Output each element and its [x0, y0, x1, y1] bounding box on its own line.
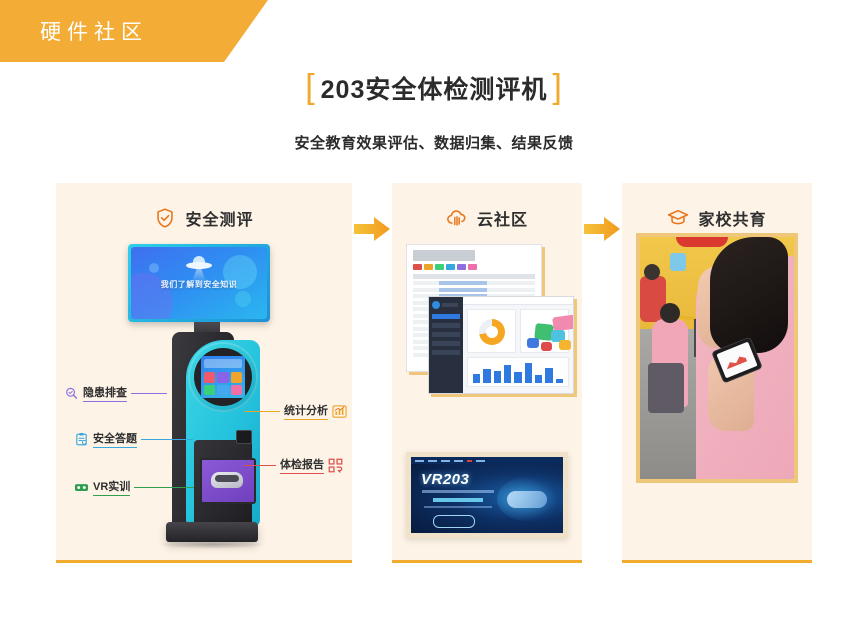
- panel-header-2: 云社区: [392, 183, 582, 230]
- callout-hazard-inspection: 隐患排查: [64, 384, 167, 402]
- clipboard-icon: [74, 432, 89, 447]
- callout-label: 体检报告: [280, 456, 324, 474]
- page-title-text: 203安全体检测评机: [321, 70, 548, 106]
- graduation-cap-icon: [667, 207, 689, 229]
- vr-goggles-icon: [74, 480, 89, 495]
- callout-health-report: 体检报告: [244, 456, 343, 474]
- callout-leader-line: [131, 393, 167, 394]
- magnifier-icon: [64, 386, 79, 401]
- dashboard-sidebar: [429, 297, 463, 393]
- callout-label: VR实训: [93, 478, 130, 496]
- callout-label: 隐患排查: [83, 384, 127, 402]
- kiosk-monitor: 我们了解到安全知识: [128, 244, 270, 322]
- callout-leader-line: [244, 465, 276, 466]
- panel-safety-assessment: 安全测评 我们了解到安全知识: [56, 183, 352, 563]
- callout-statistics-analysis: 统计分析: [244, 402, 347, 420]
- arrow-right-icon: [584, 216, 620, 242]
- screenshot-analytics-dashboard: [428, 296, 574, 394]
- vr203-website-banner: VR203: [406, 452, 568, 538]
- kiosk-base: [166, 522, 258, 542]
- header-title: 硬件社区: [40, 16, 148, 46]
- vr-headset-icon: [211, 472, 243, 488]
- panel-title-3: 家校共育: [698, 206, 766, 230]
- callout-leader-line: [134, 487, 194, 488]
- header-ribbon: 硬件社区: [0, 0, 268, 62]
- card-reader-slot: [236, 430, 252, 444]
- kiosk-screen-text: 我们了解到安全知识: [131, 279, 267, 290]
- panel-header-1: 安全测评: [56, 183, 352, 230]
- kiosk-illustration: 我们了解到安全知识: [56, 230, 352, 560]
- bracket-right-icon: ]: [552, 70, 562, 104]
- bracket-left-icon: [: [305, 70, 315, 104]
- cloud-community-content: VR203: [392, 230, 582, 560]
- callout-leader-line: [244, 411, 280, 412]
- bar-chart-icon: [332, 404, 347, 419]
- kiosk-device: 我们了解到安全知识: [150, 244, 272, 544]
- callout-safety-quiz: 安全答题: [74, 430, 193, 448]
- banner-nav: [411, 457, 563, 464]
- page-title: [ 203安全体检测评机 ]: [0, 70, 868, 106]
- shield-check-icon: [154, 207, 176, 229]
- vr203-logo: VR203: [421, 471, 469, 488]
- dashboard-main: [463, 297, 573, 393]
- photo-frame: [636, 233, 798, 483]
- callout-vr-training: VR实训: [74, 478, 194, 496]
- donut-chart: [467, 309, 516, 353]
- banner-download-button[interactable]: [433, 515, 475, 528]
- arrow-gap-1: [352, 183, 392, 563]
- bar-chart: [467, 357, 569, 387]
- callout-leader-line: [141, 439, 193, 440]
- parent-using-phone-photo: [640, 237, 794, 479]
- panel-home-school-coeducation: 家校共育: [622, 183, 812, 563]
- kiosk-touchscreen[interactable]: [201, 356, 245, 398]
- panel-cloud-community: 云社区: [392, 183, 582, 563]
- panel-header-3: 家校共育: [622, 183, 812, 230]
- dashboard-screenshots: [402, 244, 572, 392]
- panel-title-2: 云社区: [477, 206, 528, 230]
- panel-title-1: 安全测评: [185, 206, 253, 230]
- kiosk-shadow: [158, 540, 266, 549]
- ufo-icon: [186, 256, 212, 270]
- vr-headset-graphic: [497, 477, 557, 521]
- arrow-gap-2: [582, 183, 622, 563]
- page-subtitle: 安全教育效果评估、数据归集、结果反馈: [0, 132, 868, 153]
- callout-label: 安全答题: [93, 430, 137, 448]
- cloud-icon: [446, 207, 468, 229]
- callout-label: 统计分析: [284, 402, 328, 420]
- panels-row: 安全测评 我们了解到安全知识: [56, 183, 812, 563]
- kiosk-monitor-screen: 我们了解到安全知识: [131, 247, 267, 319]
- report-icon: [328, 458, 343, 473]
- china-map-chart: [520, 309, 569, 353]
- arrow-right-icon: [354, 216, 390, 242]
